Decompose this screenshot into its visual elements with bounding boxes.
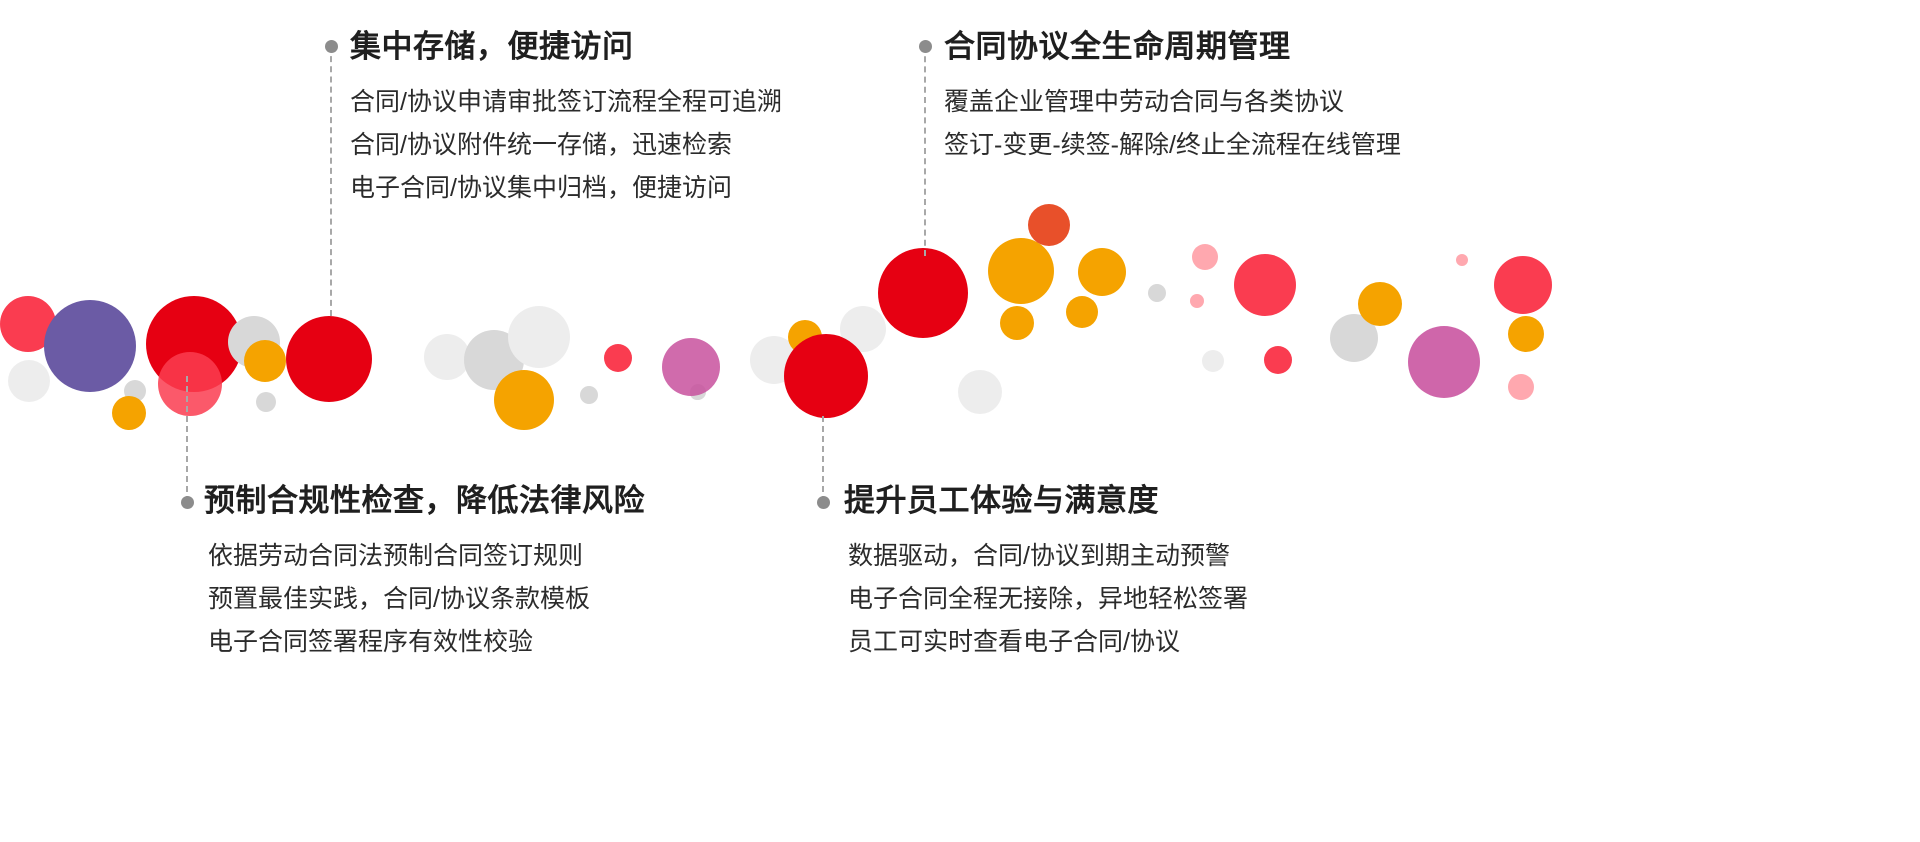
bubble-gray-far-left: [8, 360, 50, 402]
bubble-orange-small-3: [788, 320, 822, 354]
bubble-coral-mid: [604, 344, 632, 372]
connector-stem: [330, 46, 332, 316]
callout-line: 员工可实时查看电子合同/协议: [848, 621, 1248, 664]
callout-compliance-check: 预制合规性检查，降低法律风险 依据劳动合同法预制合同签订规则 预置最佳实践，合同…: [204, 482, 645, 664]
callout-lines: 覆盖企业管理中劳动合同与各类协议 签订-变更-续签-解除/终止全流程在线管理: [944, 81, 1401, 167]
callout-line: 覆盖企业管理中劳动合同与各类协议: [944, 81, 1401, 124]
bubble-gray-mid-2: [424, 334, 470, 380]
bubble-magenta-1: [662, 338, 720, 396]
bubble-gray-small-2: [256, 392, 276, 412]
bubble-gray-mid-9: [1330, 314, 1378, 362]
callout-title: 合同协议全生命周期管理: [944, 28, 1401, 67]
callout-line: 依据劳动合同法预制合同签订规则: [208, 535, 645, 578]
callout-employee-experience: 提升员工体验与满意度 数据驱动，合同/协议到期主动预警 电子合同全程无接除，异地…: [844, 482, 1248, 664]
callout-lines: 合同/协议申请审批签订流程全程可追溯 合同/协议附件统一存储，迅速检索 电子合同…: [350, 81, 782, 210]
bubble-coral-overlap: [158, 352, 222, 416]
bubble-orange-big-1: [988, 238, 1054, 304]
callout-line: 签订-变更-续签-解除/终止全流程在线管理: [944, 124, 1401, 167]
bubble-coral-far-left: [0, 296, 56, 352]
bubble-red-big-1: [146, 296, 242, 392]
bubble-coral-big-2: [1494, 256, 1552, 314]
bubble-pink-tiny-1: [1190, 294, 1204, 308]
bubble-pink-small-1: [1192, 244, 1218, 270]
connector-knob: [181, 496, 194, 509]
bubble-gray-tiny-1: [690, 384, 706, 400]
connector-stem: [822, 416, 824, 502]
bubble-red-big-2: [286, 316, 372, 402]
callout-centralized-storage: 集中存储，便捷访问 合同/协议申请审批签订流程全程可追溯 合同/协议附件统一存储…: [350, 28, 782, 210]
bubble-magenta-2: [1408, 326, 1480, 398]
bubble-gray-small-3: [580, 386, 598, 404]
bubble-pink-tiny-2: [1456, 254, 1468, 266]
callout-line: 数据驱动，合同/协议到期主动预警: [848, 535, 1248, 578]
callout-lifecycle-management: 合同协议全生命周期管理 覆盖企业管理中劳动合同与各类协议 签订-变更-续签-解除…: [944, 28, 1401, 167]
callout-title: 集中存储，便捷访问: [350, 28, 782, 67]
callout-line: 电子合同/协议集中归档，便捷访问: [350, 167, 782, 210]
bubble-gray-tiny-3: [1148, 284, 1166, 302]
callout-line: 合同/协议附件统一存储，迅速检索: [350, 124, 782, 167]
connector-stem: [186, 376, 188, 502]
bubble-gray-mid-8: [1202, 350, 1224, 372]
bubble-gray-mid-4: [508, 306, 570, 368]
bubble-coral-big-1: [1234, 254, 1296, 316]
callout-line: 电子合同全程无接除，异地轻松签署: [848, 578, 1248, 621]
bubble-gray-mid-1: [228, 316, 280, 368]
bubble-orange-big-2: [1078, 248, 1126, 296]
bubble-gray-mid-6: [840, 306, 886, 352]
callout-line: 预置最佳实践，合同/协议条款模板: [208, 578, 645, 621]
callout-lines: 依据劳动合同法预制合同签订规则 预置最佳实践，合同/协议条款模板 电子合同签署程…: [204, 535, 645, 664]
bubble-orange-big-3: [1358, 282, 1402, 326]
callout-title: 提升员工体验与满意度: [844, 482, 1248, 521]
callout-line: 电子合同签署程序有效性校验: [208, 621, 645, 664]
bubble-orange-small-2: [244, 340, 286, 382]
bubble-purple-large: [44, 300, 136, 392]
bubble-orange-small-6: [1508, 316, 1544, 352]
infographic-canvas: 集中存储，便捷访问 合同/协议申请审批签订流程全程可追溯 合同/协议附件统一存储…: [0, 0, 1920, 842]
bubble-orange-small-1: [112, 396, 146, 430]
bubble-pink-small-2: [1508, 374, 1534, 400]
connector-knob: [919, 40, 932, 53]
bubble-red-big-4: [878, 248, 968, 338]
bubble-gray-tiny-2: [690, 386, 704, 400]
bubble-red-big-3: [784, 334, 868, 418]
callout-line: 合同/协议申请审批签订流程全程可追溯: [350, 81, 782, 124]
bubble-coral-small-1: [1264, 346, 1292, 374]
bubble-gray-mid-7: [958, 370, 1002, 414]
bubble-orange-small-4: [1000, 306, 1034, 340]
bubble-gray-small-1: [124, 380, 146, 402]
connector-knob: [817, 496, 830, 509]
connector-stem: [924, 46, 926, 256]
bubble-gray-mid-3: [464, 330, 524, 390]
callout-title: 预制合规性检查，降低法律风险: [204, 482, 645, 521]
bubble-gray-mid-5: [750, 336, 798, 384]
connector-knob: [325, 40, 338, 53]
bubble-orange-small-5: [1066, 296, 1098, 328]
bubble-orangered-1: [1028, 204, 1070, 246]
callout-lines: 数据驱动，合同/协议到期主动预警 电子合同全程无接除，异地轻松签署 员工可实时查…: [844, 535, 1248, 664]
bubble-orange-mid: [494, 370, 554, 430]
